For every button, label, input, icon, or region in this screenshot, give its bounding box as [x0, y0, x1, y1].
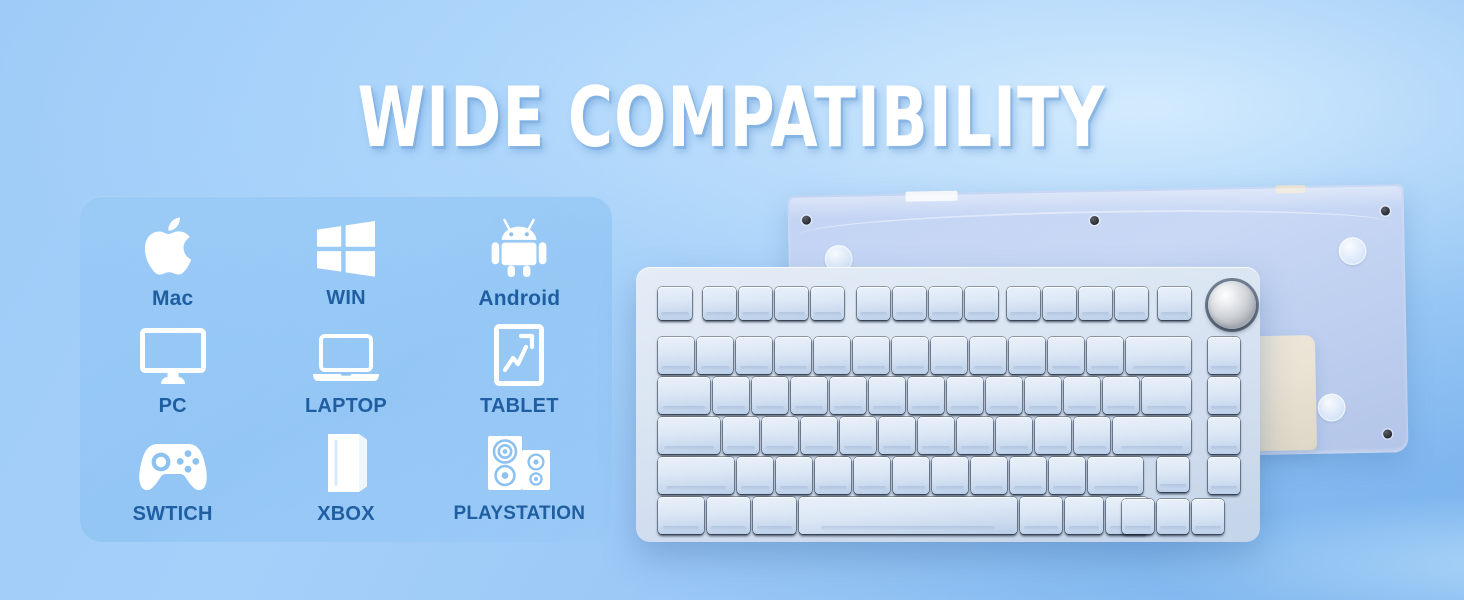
compatibility-item-android: Android — [433, 208, 606, 316]
rubber-foot — [1338, 237, 1367, 266]
key-f9[interactable] — [1007, 287, 1040, 320]
key-shift-right[interactable] — [1088, 457, 1143, 494]
compatibility-item-label: TABLET — [480, 395, 559, 418]
key-8[interactable] — [970, 337, 1006, 374]
key-q[interactable] — [713, 377, 749, 414]
key-win-left[interactable] — [707, 497, 750, 534]
laptop-icon — [308, 322, 384, 386]
key-arrow-right[interactable] — [1192, 499, 1224, 534]
playstation-consoles-icon — [481, 430, 557, 494]
page-title: WIDE COMPATIBILITY — [358, 78, 1106, 158]
compatibility-item-tablet: TABLET — [433, 316, 606, 424]
key-f4[interactable] — [811, 287, 844, 320]
key-capslock[interactable] — [658, 417, 720, 454]
key-z[interactable] — [737, 457, 773, 494]
key-delete[interactable] — [1158, 287, 1191, 320]
compatibility-item-label: SWTICH — [133, 503, 213, 526]
key-u[interactable] — [947, 377, 983, 414]
key-n[interactable] — [932, 457, 968, 494]
screw-icon — [1090, 216, 1099, 225]
key-r[interactable] — [830, 377, 866, 414]
key-x[interactable] — [776, 457, 812, 494]
key-0[interactable] — [1048, 337, 1084, 374]
keyboard-keys — [636, 267, 1260, 542]
key-f8[interactable] — [965, 287, 998, 320]
key-f1[interactable] — [703, 287, 736, 320]
key-backtick[interactable] — [658, 337, 694, 374]
key-t[interactable] — [869, 377, 905, 414]
key-period[interactable] — [1049, 457, 1085, 494]
key-e[interactable] — [791, 377, 827, 414]
switch-tab — [1275, 185, 1305, 194]
gamepad-icon — [135, 430, 211, 494]
compatibility-item-label: LAPTOP — [305, 395, 387, 418]
key-1[interactable] — [697, 337, 733, 374]
cable-tab — [905, 191, 957, 202]
front-keyboard — [636, 267, 1260, 542]
key-6[interactable] — [892, 337, 928, 374]
key-comma[interactable] — [1010, 457, 1046, 494]
screw-icon — [1383, 429, 1392, 438]
key-minus[interactable] — [1087, 337, 1123, 374]
rotary-knob[interactable] — [1208, 281, 1256, 329]
key-f10[interactable] — [1043, 287, 1076, 320]
key-4[interactable] — [814, 337, 850, 374]
screw-icon — [802, 215, 811, 224]
key-ctrl-left[interactable] — [658, 497, 704, 534]
key-5[interactable] — [853, 337, 889, 374]
key-d[interactable] — [801, 417, 837, 454]
key-7[interactable] — [931, 337, 967, 374]
key-shift-left[interactable] — [658, 457, 734, 494]
key-f3[interactable] — [775, 287, 808, 320]
key-g[interactable] — [879, 417, 915, 454]
key-9[interactable] — [1009, 337, 1045, 374]
key-backslash[interactable] — [1142, 377, 1191, 414]
key-m[interactable] — [971, 457, 1007, 494]
key-f11[interactable] — [1079, 287, 1112, 320]
windows-logo-icon — [308, 214, 384, 278]
compatibility-item-win: WIN — [259, 208, 432, 316]
key-f12[interactable] — [1115, 287, 1148, 320]
key-enter[interactable] — [1113, 417, 1191, 454]
key-j[interactable] — [957, 417, 993, 454]
compatibility-item-label: Mac — [152, 287, 193, 311]
key-arrow-down[interactable] — [1157, 499, 1189, 534]
tablet-chart-icon — [481, 322, 557, 386]
key-2[interactable] — [736, 337, 772, 374]
key-bracket-left[interactable] — [1103, 377, 1139, 414]
compatibility-item-xbox: XBOX — [259, 424, 432, 532]
key-f5[interactable] — [857, 287, 890, 320]
compatibility-item-pc: PC — [86, 316, 259, 424]
key-y[interactable] — [908, 377, 944, 414]
key-w[interactable] — [752, 377, 788, 414]
compatibility-item-label: PLAYSTATION — [453, 503, 585, 525]
compatibility-item-label: PC — [159, 395, 187, 418]
key-c[interactable] — [815, 457, 851, 494]
key-end[interactable] — [1208, 457, 1240, 494]
compatibility-item-label: Android — [478, 287, 560, 311]
compatibility-panel: Mac WIN — [80, 196, 612, 542]
compatibility-item-label: XBOX — [317, 503, 374, 526]
compatibility-item-label: WIN — [326, 287, 365, 310]
key-space[interactable] — [799, 497, 1017, 534]
key-semicolon[interactable] — [1074, 417, 1110, 454]
key-a[interactable] — [723, 417, 759, 454]
key-i[interactable] — [986, 377, 1022, 414]
wide-compatibility-banner: WIDE COMPATIBILITY Mac — [0, 0, 1464, 600]
key-v[interactable] — [854, 457, 890, 494]
key-tab[interactable] — [658, 377, 710, 414]
key-f7[interactable] — [929, 287, 962, 320]
compatibility-item-switch: SWTICH — [86, 424, 259, 532]
key-f2[interactable] — [739, 287, 772, 320]
key-f[interactable] — [840, 417, 876, 454]
key-p[interactable] — [1064, 377, 1100, 414]
key-backspace[interactable] — [1126, 337, 1191, 374]
key-s[interactable] — [762, 417, 798, 454]
key-arrow-up[interactable] — [1157, 457, 1189, 492]
key-h[interactable] — [918, 417, 954, 454]
product-photo — [600, 150, 1464, 600]
key-b[interactable] — [893, 457, 929, 494]
xbox-console-icon — [308, 430, 384, 494]
key-alt-right[interactable] — [1020, 497, 1062, 534]
key-esc[interactable] — [658, 287, 692, 320]
key-home[interactable] — [1208, 337, 1240, 374]
key-pageup[interactable] — [1208, 377, 1240, 414]
key-3[interactable] — [775, 337, 811, 374]
compatibility-item-mac: Mac — [86, 208, 259, 316]
key-l[interactable] — [1035, 417, 1071, 454]
compatibility-item-laptop: LAPTOP — [259, 316, 432, 424]
compatibility-item-playstation: PLAYSTATION — [433, 424, 606, 532]
desktop-monitor-icon — [135, 322, 211, 386]
headline-container: WIDE COMPATIBILITY — [0, 78, 1464, 158]
key-f6[interactable] — [893, 287, 926, 320]
rubber-foot — [1317, 393, 1346, 422]
key-fn[interactable] — [1065, 497, 1103, 534]
compatibility-grid: Mac WIN — [80, 196, 612, 542]
apple-logo-icon — [135, 214, 211, 278]
key-k[interactable] — [996, 417, 1032, 454]
key-alt-left[interactable] — [753, 497, 796, 534]
key-pagedown[interactable] — [1208, 417, 1240, 454]
key-arrow-left[interactable] — [1122, 499, 1154, 534]
key-o[interactable] — [1025, 377, 1061, 414]
screw-icon — [1381, 206, 1390, 215]
android-robot-icon — [481, 214, 557, 278]
